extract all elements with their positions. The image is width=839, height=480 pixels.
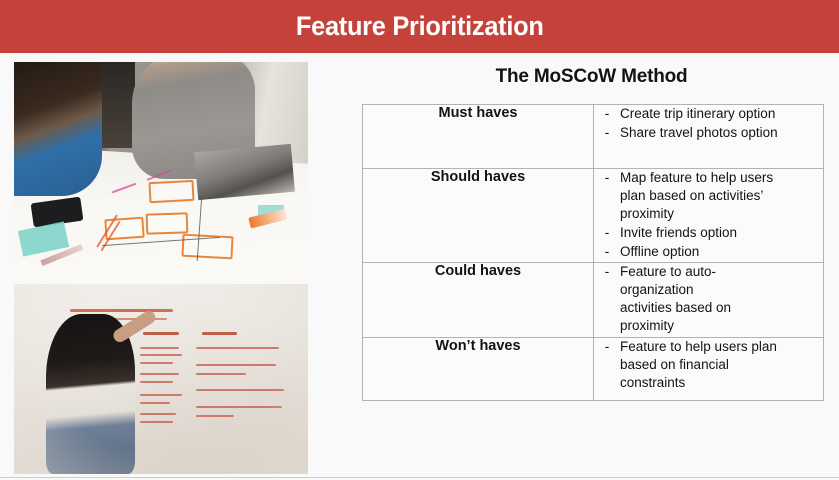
whiteboard-archetypes-photo	[14, 284, 308, 474]
item-text: Feature to auto-organization activities …	[620, 263, 742, 335]
list-item: - Offline option	[594, 243, 823, 261]
bottom-divider	[0, 477, 839, 478]
dash-bullet-icon: -	[594, 338, 620, 356]
list-item: - Share travel photos option	[594, 124, 823, 142]
items-cell: - Create trip itinerary option - Share t…	[594, 105, 824, 169]
list-item: - Invite friends option	[594, 224, 823, 242]
moscow-method-title: The MoSCoW Method	[362, 66, 821, 88]
item-text: Invite friends option	[620, 224, 792, 242]
category-cell: Won’t haves	[363, 337, 594, 400]
item-list: - Map feature to help users plan based o…	[594, 169, 823, 261]
item-list: - Feature to help users plan based on fi…	[594, 338, 823, 392]
item-text: Share travel photos option	[620, 124, 782, 142]
category-cell: Could haves	[363, 262, 594, 337]
item-text: Map feature to help users plan based on …	[620, 169, 792, 223]
item-text: Feature to help users plan based on fina…	[620, 338, 792, 392]
table-row: Could haves - Feature to auto-organizati…	[363, 262, 824, 337]
item-list: - Feature to auto-organization activitie…	[594, 263, 823, 335]
dash-bullet-icon: -	[594, 124, 620, 142]
table-row: Must haves - Create trip itinerary optio…	[363, 105, 824, 169]
photo-column	[14, 62, 308, 474]
item-text: Offline option	[620, 243, 792, 261]
category-cell: Must haves	[363, 105, 594, 169]
items-cell: - Feature to auto-organization activitie…	[594, 262, 824, 337]
workshop-table-photo	[14, 62, 308, 278]
item-text: Create trip itinerary option	[620, 105, 782, 123]
list-item: - Create trip itinerary option	[594, 105, 823, 123]
dash-bullet-icon: -	[594, 169, 620, 187]
moscow-table: Must haves - Create trip itinerary optio…	[362, 104, 824, 401]
category-cell: Should haves	[363, 169, 594, 263]
dash-bullet-icon: -	[594, 243, 620, 261]
moscow-panel: The MoSCoW Method Must haves - Create tr…	[362, 66, 821, 401]
dash-bullet-icon: -	[594, 263, 620, 281]
photo-person-left	[14, 62, 102, 196]
item-list: - Create trip itinerary option - Share t…	[594, 105, 823, 142]
page-title: Feature Prioritization	[296, 11, 544, 42]
photo-sketch-card	[149, 180, 195, 204]
items-cell: - Feature to help users plan based on fi…	[594, 337, 824, 400]
items-cell: - Map feature to help users plan based o…	[594, 169, 824, 263]
table-row: Won’t haves - Feature to help users plan…	[363, 337, 824, 400]
dash-bullet-icon: -	[594, 224, 620, 242]
dash-bullet-icon: -	[594, 105, 620, 123]
list-item: - Map feature to help users plan based o…	[594, 169, 823, 223]
photo-edge-fade	[14, 284, 308, 474]
table-row: Should haves - Map feature to help users…	[363, 169, 824, 263]
list-item: - Feature to auto-organization activitie…	[594, 263, 823, 335]
list-item: - Feature to help users plan based on fi…	[594, 338, 823, 392]
header-banner: Feature Prioritization	[0, 0, 839, 53]
photo-sketch-card	[146, 212, 189, 235]
photo-laptop	[194, 144, 295, 200]
